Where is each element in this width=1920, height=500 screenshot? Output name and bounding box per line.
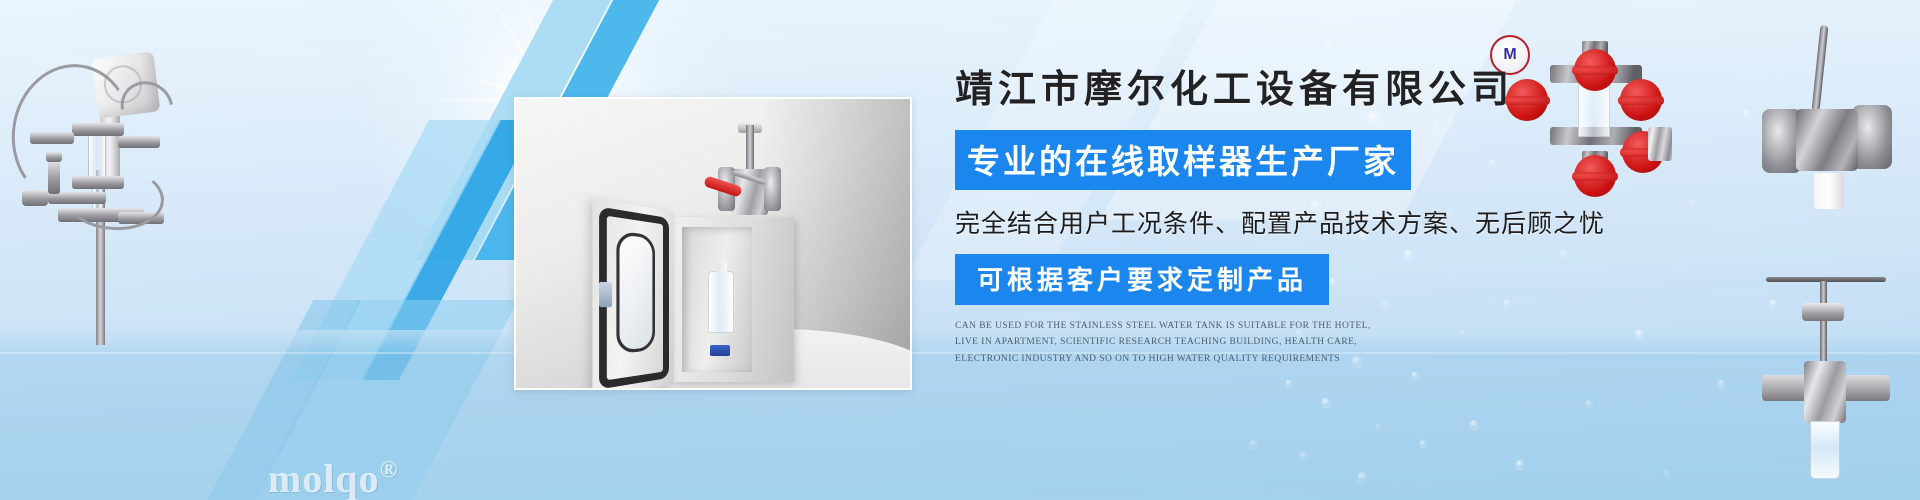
lever-valve-body <box>1796 109 1858 171</box>
sampling-cabinet <box>674 217 794 382</box>
sun-ray <box>476 0 551 101</box>
diagonal-stripe-3 <box>361 120 537 380</box>
door-lock <box>599 282 612 307</box>
watermark-text: molqo <box>268 456 380 500</box>
sun-ray <box>461 11 552 102</box>
watermark-logo: molqo® <box>268 455 399 500</box>
water-droplet <box>1376 424 1381 430</box>
bottom-valve-arm-right <box>1842 375 1890 401</box>
water-droplet <box>1744 110 1749 116</box>
top-valve-assembly <box>716 123 782 223</box>
bottom-valve-body <box>1804 361 1846 423</box>
valve-stem <box>746 125 754 173</box>
water-droplet <box>1718 380 1725 388</box>
water-droplet <box>1470 420 1478 429</box>
diagonal-stripe-4 <box>291 120 501 380</box>
english-caption: Can be used for the stainless steel wate… <box>955 318 1375 368</box>
water-droplet <box>1586 400 1592 407</box>
valve-lever <box>1812 25 1829 111</box>
water-droplet <box>1250 440 1257 448</box>
sun-ray <box>549 11 702 101</box>
door-window <box>616 231 655 354</box>
lever-valve-flange-right <box>1852 105 1892 169</box>
water-droplet <box>1300 452 1307 460</box>
cabinet-door <box>592 197 674 390</box>
sun-ray <box>549 0 552 100</box>
bottom-valve-stem <box>1820 281 1827 363</box>
lever-valve-illustration <box>1760 25 1910 225</box>
lever-valve-nozzle <box>1814 173 1844 209</box>
sun-ray <box>549 32 618 101</box>
slogan-description: 完全结合用户工况条件、配置产品技术方案、无后顾之忧 <box>955 204 1695 240</box>
promotional-banner: M 靖江市摩尔化工设备有限公司 专业的在线取样器生产厂家 完全结合用户工况条件、… <box>0 0 1920 500</box>
sun-ray <box>406 16 550 101</box>
water-droplet <box>1286 380 1291 386</box>
slogan-custom: 可根据客户要求定制产品 <box>955 254 1329 305</box>
valve-flange-right <box>764 167 781 211</box>
product-photo <box>514 97 912 390</box>
sun-ray <box>521 0 551 100</box>
registered-mark: ® <box>380 458 399 484</box>
left-equipment-illustration <box>0 20 200 340</box>
slogan-primary: 专业的在线取样器生产厂家 <box>955 130 1411 190</box>
blue-cap <box>710 345 730 356</box>
water-droplet <box>1664 470 1670 477</box>
water-droplet <box>1322 398 1330 407</box>
banner-text-block: 靖江市摩尔化工设备有限公司 专业的在线取样器生产厂家 完全结合用户工况条件、配置… <box>955 68 1695 367</box>
sun-ray <box>549 0 627 101</box>
sample-bottle <box>708 271 734 333</box>
bottom-valve-illustration <box>1760 265 1915 500</box>
cabinet-interior <box>682 227 752 372</box>
water-droplet <box>1412 372 1418 379</box>
bottom-valve-cap <box>1802 303 1844 321</box>
sun-ray <box>549 0 583 100</box>
bottom-valve-sight-glass <box>1810 421 1840 479</box>
bottom-valve-arm-left <box>1762 375 1810 401</box>
water-droplet <box>1325 40 1334 50</box>
badge-mark: M <box>1503 46 1516 64</box>
company-name: 靖江市摩尔化工设备有限公司 <box>955 68 1695 114</box>
water-droplet <box>1358 472 1367 482</box>
water-droplet <box>1516 460 1524 469</box>
water-droplet <box>1420 440 1426 447</box>
